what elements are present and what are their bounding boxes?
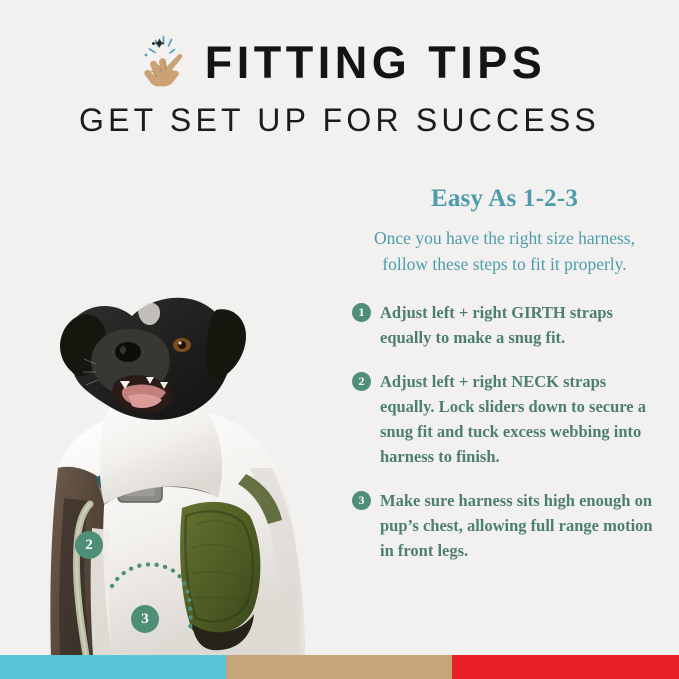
intro-line-2: follow these steps to fit it properly. [382,254,626,274]
intro-line-1: Once you have the right size harness, [374,228,635,248]
footer-bar-tan [226,655,452,679]
footer-bar-red [452,655,679,679]
step-text-1: Adjust left + right GIRTH straps equally… [380,300,661,350]
title-row: FITTING TIPS [0,34,679,90]
step-badge-3: 3 [352,491,371,510]
page-header: FITTING TIPS GET SET UP FOR SUCCESS [0,0,679,160]
dog-harness-photo: 1 2 3 [0,168,330,655]
step-text-2: Adjust left + right NECK straps equally.… [380,369,661,469]
step-text-3: Make sure harness sits high enough on pu… [380,488,661,563]
page-subtitle: GET SET UP FOR SUCCESS [0,104,679,136]
instructions-intro: Once you have the right size harness, fo… [330,225,679,278]
instructions-heading: Easy As 1-2-3 [330,186,679,211]
photo-marker-2: 2 [75,531,103,559]
step-badge-1: 1 [352,303,371,322]
step-item-3: 3 Make sure harness sits high enough on … [352,488,661,563]
snapping-fingers-icon [133,34,191,90]
page-title: FITTING TIPS [205,40,547,85]
footer-color-bar [0,655,679,679]
step-item-1: 1 Adjust left + right GIRTH straps equal… [352,300,661,350]
photo-marker-3: 3 [131,605,159,633]
step-item-2: 2 Adjust left + right NECK straps equall… [352,369,661,469]
fitting-tips-page: FITTING TIPS GET SET UP FOR SUCCESS [0,0,679,679]
steps-list: 1 Adjust left + right GIRTH straps equal… [330,300,679,564]
step-badge-2: 2 [352,372,371,391]
dog-photo-illustration [0,168,330,655]
instructions-panel: Easy As 1-2-3 Once you have the right si… [330,186,679,563]
footer-bar-cyan [0,655,226,679]
